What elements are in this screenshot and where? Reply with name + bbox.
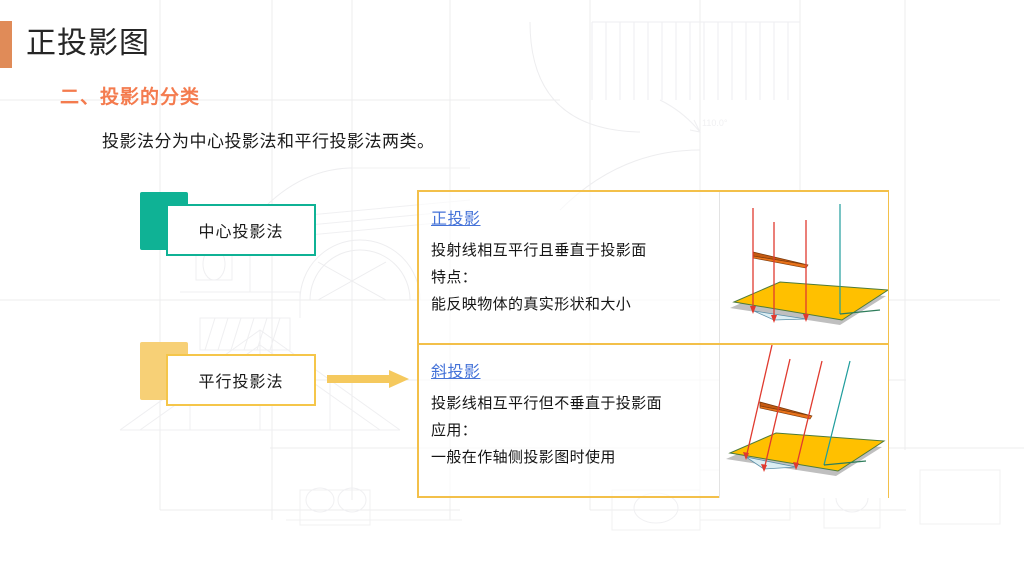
section-heading: 二、投影的分类 — [60, 82, 200, 109]
card-outline: 中心投影法 — [166, 204, 316, 256]
intro-paragraph: 投影法分为中心投影法和平行投影法两类。 — [102, 127, 435, 152]
detail-line: 投影线相互平行但不垂直于投影面 — [431, 390, 719, 417]
figure-orthographic-projection — [719, 192, 888, 343]
detail-line: 一般在作轴侧投影图时使用 — [431, 444, 719, 471]
title-accent-bar — [0, 21, 12, 68]
detail-heading-oblique: 斜投影 — [431, 358, 481, 382]
page-title: 正投影图 — [26, 23, 150, 65]
detail-line: 应用： — [431, 417, 719, 444]
detail-heading-orthographic: 正投影 — [431, 205, 481, 229]
method-card-central-projection[interactable]: 中心投影法 — [140, 192, 316, 254]
slide-canvas: 110.0° 正投影图 二、投影的分类 投影法分为中心投影法和平行投影法两类。 … — [0, 0, 1024, 576]
detail-line: 能反映物体的真实形状和大小 — [431, 291, 719, 318]
projection-detail-panel: 正投影 投射线相互平行且垂直于投影面 特点： 能反映物体的真实形状和大小 — [417, 190, 889, 498]
figure-oblique-projection — [719, 345, 888, 498]
method-label-parallel: 平行投影法 — [198, 368, 283, 392]
svg-text:110.0°: 110.0° — [702, 118, 728, 128]
detail-line: 特点： — [431, 264, 719, 291]
method-label-central: 中心投影法 — [198, 218, 283, 242]
detail-text-oblique: 斜投影 投影线相互平行但不垂直于投影面 应用： 一般在作轴侧投影图时使用 — [419, 345, 719, 498]
detail-text-orthographic: 正投影 投射线相互平行且垂直于投影面 特点： 能反映物体的真实形状和大小 — [419, 192, 719, 343]
method-card-parallel-projection[interactable]: 平行投影法 — [140, 342, 316, 404]
card-outline: 平行投影法 — [166, 354, 316, 406]
detail-row-orthographic: 正投影 投射线相互平行且垂直于投影面 特点： 能反映物体的真实形状和大小 — [419, 192, 887, 345]
detail-line: 投射线相互平行且垂直于投影面 — [431, 237, 719, 264]
detail-row-oblique: 斜投影 投影线相互平行但不垂直于投影面 应用： 一般在作轴侧投影图时使用 — [419, 345, 887, 498]
right-arrow-icon — [327, 368, 409, 390]
